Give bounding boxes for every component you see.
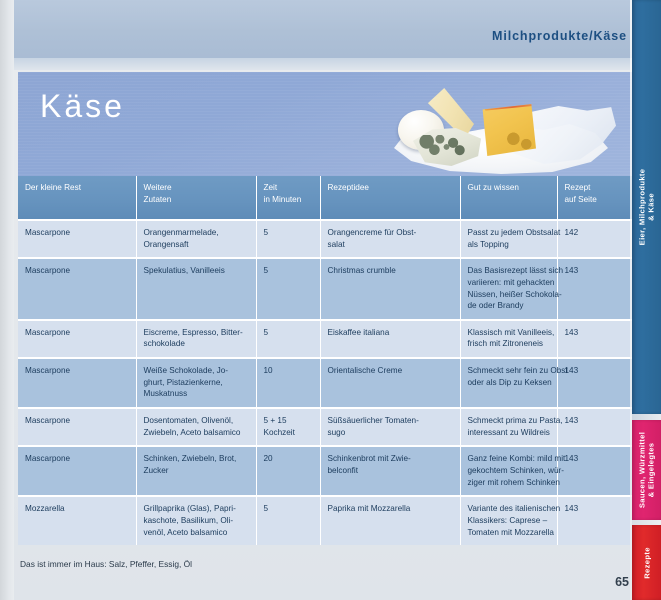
cell-gut-zu-wissen: Schmeckt prima zu Pasta, interessant zu … bbox=[460, 408, 557, 446]
cell-gut-zu-wissen: Passt zu jedem Obstsalat als Topping bbox=[460, 220, 557, 258]
cell-zeit: 5 bbox=[256, 320, 320, 358]
table-head: Der kleine Rest Weitere Zutaten Zeit in … bbox=[18, 176, 632, 220]
cell-seite: 143 bbox=[557, 320, 632, 358]
cell-rezeptidee: Süßsäuerlicher Tomaten- sugo bbox=[320, 408, 460, 446]
cell-zeit: 5 bbox=[256, 220, 320, 258]
cell-rezeptidee: Eiskaffee italiana bbox=[320, 320, 460, 358]
cell-rezeptidee: Schinkenbrot mit Zwie- belconfit bbox=[320, 446, 460, 496]
cell-rezeptidee: Orientalische Creme bbox=[320, 358, 460, 408]
table-header-row: Der kleine Rest Weitere Zutaten Zeit in … bbox=[18, 176, 632, 220]
cell-gut-zu-wissen: Klassisch mit Vanilleeis, frisch mit Zit… bbox=[460, 320, 557, 358]
thumb-tab-label: Eier, Milchprodukte& Käse bbox=[637, 169, 656, 246]
running-head-text: Milchprodukte/Käse bbox=[492, 29, 627, 43]
table-row: Mascarpone Eiscreme, Espresso, Bitter- s… bbox=[18, 320, 632, 358]
cell-zutaten: Eiscreme, Espresso, Bitter- schokolade bbox=[136, 320, 256, 358]
cell-rezeptidee: Paprika mit Mozzarella bbox=[320, 496, 460, 545]
cell-seite: 143 bbox=[557, 446, 632, 496]
cell-rest: Mascarpone bbox=[18, 258, 136, 320]
cell-zeit: 10 bbox=[256, 358, 320, 408]
cell-rest: Mozzarella bbox=[18, 496, 136, 545]
column-header-rest: Der kleine Rest bbox=[18, 176, 136, 220]
thumb-tab-label: Rezepte bbox=[642, 547, 651, 579]
page-left-gutter bbox=[0, 0, 14, 600]
cell-zutaten: Weiße Schokolade, Jo- ghurt, Pistazienke… bbox=[136, 358, 256, 408]
cell-rest: Mascarpone bbox=[18, 446, 136, 496]
cell-zutaten: Spekulatius, Vanilleeis bbox=[136, 258, 256, 320]
cell-gut-zu-wissen: Ganz feine Kombi: mild mit gekochtem Sch… bbox=[460, 446, 557, 496]
cell-gut-zu-wissen: Variante des italienischen Klassikers: C… bbox=[460, 496, 557, 545]
table-row: Mascarpone Orangenmarmelade, Orangensaft… bbox=[18, 220, 632, 258]
column-header-zutaten: Weitere Zutaten bbox=[136, 176, 256, 220]
table-row: Mascarpone Dosentomaten, Olivenöl, Zwieb… bbox=[18, 408, 632, 446]
chapter-title: Käse bbox=[40, 88, 125, 125]
recipe-table: Der kleine Rest Weitere Zutaten Zeit in … bbox=[18, 176, 632, 545]
column-header-zeit: Zeit in Minuten bbox=[256, 176, 320, 220]
cell-zeit: 5 + 15 Kochzeit bbox=[256, 408, 320, 446]
cell-seite: 143 bbox=[557, 496, 632, 545]
table-row: Mozzarella Grillpaprika (Glas), Papri- k… bbox=[18, 496, 632, 545]
table-row: Mascarpone Weiße Schokolade, Jo- ghurt, … bbox=[18, 358, 632, 408]
table-row: Mascarpone Spekulatius, Vanilleeis 5 Chr… bbox=[18, 258, 632, 320]
thumb-tab-eier-milchprodukte[interactable]: Eier, Milchprodukte& Käse bbox=[632, 0, 661, 414]
cell-zeit: 5 bbox=[256, 258, 320, 320]
table-body: Mascarpone Orangenmarmelade, Orangensaft… bbox=[18, 220, 632, 545]
table-row: Mascarpone Schinken, Zwiebeln, Brot, Zuc… bbox=[18, 446, 632, 496]
cell-seite: 143 bbox=[557, 258, 632, 320]
cell-zutaten: Dosentomaten, Olivenöl, Zwiebeln, Aceto … bbox=[136, 408, 256, 446]
cell-zeit: 20 bbox=[256, 446, 320, 496]
cell-zutaten: Schinken, Zwiebeln, Brot, Zucker bbox=[136, 446, 256, 496]
cell-zutaten: Grillpaprika (Glas), Papri- kaschote, Ba… bbox=[136, 496, 256, 545]
cell-seite: 142 bbox=[557, 220, 632, 258]
thumb-tab-saucen-wuerzmittel[interactable]: Saucen, Würzmittel& Eingelegtes bbox=[632, 420, 661, 520]
thumb-tab-rezepte[interactable]: Rezepte bbox=[632, 525, 661, 600]
cell-zutaten: Orangenmarmelade, Orangensaft bbox=[136, 220, 256, 258]
recipe-table-container: Der kleine Rest Weitere Zutaten Zeit in … bbox=[18, 176, 632, 545]
thumb-tab-label: Saucen, Würzmittel& Eingelegtes bbox=[637, 432, 656, 508]
cell-rest: Mascarpone bbox=[18, 220, 136, 258]
column-header-gut-zu-wissen: Gut zu wissen bbox=[460, 176, 557, 220]
cheese-photo bbox=[368, 72, 632, 176]
cell-gut-zu-wissen: Schmeckt sehr fein zu Obst oder als Dip … bbox=[460, 358, 557, 408]
column-header-rezeptidee: Rezeptidee bbox=[320, 176, 460, 220]
cell-rezeptidee: Christmas crumble bbox=[320, 258, 460, 320]
thumb-index-rail: Eier, Milchprodukte& Käse Saucen, Würzmi… bbox=[632, 0, 661, 600]
cell-gut-zu-wissen: Das Basisrezept lässt sich variieren: mi… bbox=[460, 258, 557, 320]
cell-seite: 143 bbox=[557, 358, 632, 408]
cell-rezeptidee: Orangencreme für Obst- salat bbox=[320, 220, 460, 258]
gouda-block-shape bbox=[478, 102, 536, 156]
cell-zeit: 5 bbox=[256, 496, 320, 545]
cell-rest: Mascarpone bbox=[18, 320, 136, 358]
cell-rest: Mascarpone bbox=[18, 358, 136, 408]
book-page: Milchprodukte/Käse Käse Der kleine Rest bbox=[0, 0, 661, 600]
pantry-footnote: Das ist immer im Haus: Salz, Pfeffer, Es… bbox=[20, 559, 192, 569]
running-head-fade bbox=[14, 58, 632, 70]
cell-rest: Mascarpone bbox=[18, 408, 136, 446]
page-number: 65 bbox=[615, 575, 629, 589]
cell-seite: 143 bbox=[557, 408, 632, 446]
column-header-rezept-seite: Rezept auf Seite bbox=[557, 176, 632, 220]
